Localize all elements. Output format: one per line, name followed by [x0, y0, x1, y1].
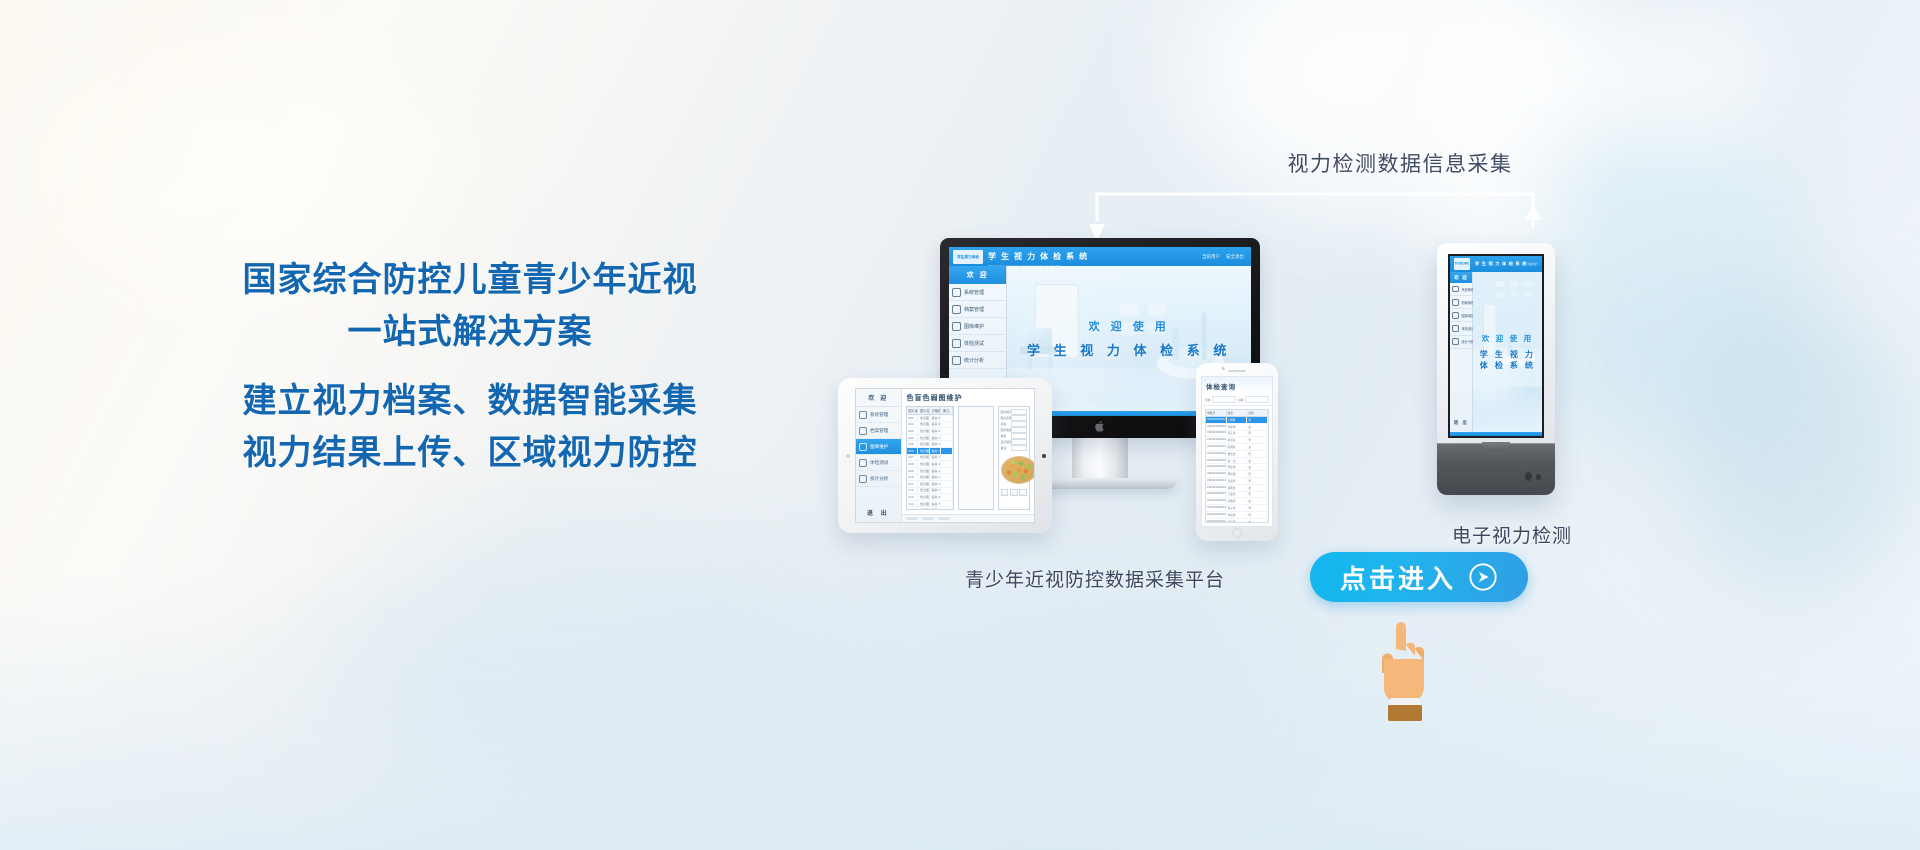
table-row[interactable]: 3301021020010008孙佳怡女	[1206, 464, 1268, 471]
table-cell: 答案 6	[930, 428, 942, 434]
image-library-icon	[1452, 312, 1459, 319]
table-cell	[941, 468, 953, 474]
kiosk-sidebar-exit-button[interactable]: 退 出	[1450, 415, 1472, 432]
table-cell: 女	[1247, 519, 1268, 523]
table-row[interactable]: 009色盲图09答案 2	[907, 468, 953, 475]
user-gear-icon	[1452, 286, 1459, 293]
desktop-app-topbar: 学生视力体检 学 生 视 力 体 检 系 统 STUDENT VISUAL EX…	[949, 247, 1251, 266]
status-segment	[922, 517, 934, 520]
tablet-sidebar-item-label: 系统管理	[870, 412, 888, 418]
table-cell: 答案 2	[930, 468, 942, 474]
table-cell	[941, 435, 953, 441]
table-cell: 色盲图05	[918, 441, 930, 447]
table-cell: 001	[907, 415, 919, 421]
table-cell: 女	[1247, 498, 1268, 504]
table-cell: 答案 3	[930, 435, 942, 441]
tablet-sidebar-item-archive-management[interactable]: 档案管理	[856, 423, 901, 439]
grade-filter-select[interactable]	[1212, 396, 1236, 403]
form-field-label: 图片名称	[1001, 416, 1009, 420]
kiosk-screen: 学生视力体检 学 生 视 力 体 检 系 统 当前用户 安全退出 欢 迎 系统管…	[1448, 254, 1544, 438]
kiosk-chin-notch	[1482, 442, 1510, 451]
tablet-screen: 欢 迎 系统管理 档案管理 图库维护 体检测试	[855, 388, 1035, 523]
folder-icon	[952, 305, 961, 314]
form-field-label: 图片编号	[1001, 410, 1009, 414]
table-cell: 色盲图07	[918, 455, 930, 461]
table-cell: 3301021020010015	[1206, 512, 1227, 518]
table-cell: 赵一诺	[1227, 458, 1248, 464]
image-library-icon	[952, 322, 961, 331]
table-row[interactable]: 3301021020010014何子轩男	[1206, 505, 1268, 512]
table-row[interactable]: 3301021020010013冯雅婷女	[1206, 498, 1268, 505]
tablet-sidebar-item-statistics[interactable]: 统计分析	[856, 471, 901, 487]
grade-filter[interactable]: 年级	[1205, 396, 1236, 403]
data-flow-label: 视力检测数据信息采集	[1255, 148, 1545, 178]
background-blur-b	[1680, 300, 1920, 600]
table-cell: 005	[907, 441, 919, 447]
safe-logout-button[interactable]: 安全退出	[1226, 254, 1244, 260]
table-cell: 色盲图12	[918, 488, 930, 494]
phone-home-button[interactable]	[1232, 528, 1242, 538]
kiosk-sidebar-item-statistics[interactable]: 统计分析	[1450, 336, 1472, 349]
kiosk-welcome-heading: 欢 迎 使 用	[1482, 333, 1534, 344]
current-user-label[interactable]: 当前用户	[1527, 262, 1537, 266]
kiosk-app-topbar: 学生视力体检 学 生 视 力 体 检 系 统 当前用户 安全退出	[1450, 256, 1542, 272]
tablet-sidebar-item-label: 统计分析	[870, 476, 888, 482]
phone-screen: 体检查询 年级 班级 学籍号 姓名 性别 3301021020010001王明轩…	[1201, 376, 1273, 527]
enter-button-label: 点击进入	[1340, 559, 1456, 596]
form-field-label: 答案	[1001, 422, 1009, 426]
table-cell: 013	[907, 494, 919, 500]
table-row[interactable]: 015色盲图15答案 26	[907, 507, 953, 510]
kiosk-sidebar-item-exam-test[interactable]: 体检测试	[1450, 322, 1472, 335]
vision-screening-kiosk: 学生视力体检 学 生 视 力 体 检 系 统 当前用户 安全退出 欢 迎 系统管…	[1437, 243, 1555, 495]
table-cell: 色盲图01	[918, 415, 930, 421]
table-body: 001色盲图01答案 5002色盲图02答案 8003色盲图03答案 6004色…	[907, 415, 953, 510]
form-field-label: 显示顺序	[1001, 440, 1009, 444]
table-cell: 王俊杰	[1227, 492, 1248, 498]
background-blur-c	[300, 520, 820, 780]
table-row[interactable]: 3301021020010010吴嘉伟男	[1206, 478, 1268, 485]
table-row[interactable]: 3301021020010005陈雨欣女	[1206, 444, 1268, 451]
sidebar-header-welcome: 欢 迎	[949, 266, 1006, 284]
tablet-app: 欢 迎 系统管理 档案管理 图库维护 体检测试	[856, 389, 1034, 522]
table-cell: 答案 42	[930, 481, 942, 487]
sidebar-item-archive-management[interactable]: 档案管理	[949, 301, 1006, 318]
table-cell	[941, 494, 953, 500]
table-header-row: 图片编号 图片名称 正确答案 备注	[907, 407, 953, 415]
tablet-app-sidebar: 欢 迎 系统管理 档案管理 图库维护 体检测试	[856, 389, 902, 522]
app-logo-icon: 学生视力体检	[953, 250, 983, 264]
table-cell: 色盲图11	[918, 481, 930, 487]
table-cell: 3301021020010003	[1206, 431, 1227, 437]
table-cell: 3301021020010008	[1206, 464, 1227, 470]
tablet-status-bar	[902, 514, 1035, 522]
table-row[interactable]: 011色盲图11答案 42	[907, 481, 953, 488]
current-user-label[interactable]: 当前用户	[1202, 254, 1220, 260]
table-cell: 007	[907, 455, 919, 461]
add-button[interactable]	[1001, 489, 1009, 496]
tablet-content-columns: 图片编号 图片名称 正确答案 备注 001色盲图01答案 5002色盲图02答案…	[902, 406, 1035, 514]
table-cell: 杨浩然	[1227, 451, 1248, 457]
test-icon	[952, 339, 961, 348]
table-cell: 男	[1247, 478, 1268, 484]
table-cell: 答案 16	[930, 474, 942, 480]
desktop-app-title: 学 生 视 力 体 检 系 统	[988, 252, 1089, 261]
table-cell	[941, 461, 953, 467]
tablet-sidebar-item-label: 档案管理	[870, 428, 888, 434]
chart-preview-pane	[958, 406, 994, 510]
table-cell: 003	[907, 428, 919, 434]
table-cell: 男	[1247, 512, 1268, 518]
ishihara-plate-icon	[1001, 456, 1035, 484]
student-exam-table[interactable]: 学籍号 姓名 性别 3301021020010001王明轩男3301021020…	[1205, 409, 1269, 523]
table-cell: 3301021020010016	[1206, 519, 1227, 523]
table-cell: 答案 8	[930, 422, 942, 428]
table-cell: 张子豪	[1227, 431, 1248, 437]
table-cell: 015	[907, 507, 919, 510]
table-cell	[941, 474, 953, 480]
chart-clock-icon	[859, 475, 867, 483]
table-cell: 男	[1247, 437, 1268, 443]
background-blur-e	[40, 60, 460, 280]
kiosk-sensor-cluster	[1525, 472, 1541, 481]
desktop-app-topbar-actions[interactable]: 当前用户 安全退出	[1202, 254, 1247, 260]
table-cell: 男	[1247, 431, 1268, 437]
kiosk-sensor-icon	[1536, 474, 1541, 480]
table-cell: 3301021020010006	[1206, 451, 1227, 457]
column-header: 图片名称	[918, 407, 930, 414]
welcome-system-name: 学 生 视 力 体 检 系 统	[1023, 342, 1235, 360]
sidebar-item-label: 统计分析	[964, 357, 984, 364]
kiosk-sidebar-item-archive-management[interactable]: 档案管理	[1450, 296, 1472, 309]
form-field-label: 图片路径	[1001, 428, 1009, 432]
table-cell: 006	[907, 448, 919, 454]
desktop-app-title-group: 学 生 视 力 体 检 系 统 STUDENT VISUAL EXAMINATI…	[988, 247, 1089, 268]
form-field-label: 备注	[1001, 446, 1009, 450]
table-cell: 吴嘉伟	[1227, 478, 1248, 484]
table-cell: 009	[907, 468, 919, 474]
table-row[interactable]: 3301021020010004刘思远男	[1206, 437, 1268, 444]
table-cell: 答案 35	[930, 488, 942, 494]
table-cell: 3301021020010001	[1206, 417, 1227, 423]
background-blur-d	[760, 560, 1240, 800]
table-cell: 女	[1247, 444, 1268, 450]
table-cell: 答案 45	[930, 461, 942, 467]
table-cell: 002	[907, 422, 919, 428]
kiosk-app-topbar-actions[interactable]: 当前用户 安全退出	[1527, 262, 1542, 266]
table-row[interactable]: 002色盲图02答案 8	[907, 422, 953, 429]
tablet-home-button[interactable]	[1042, 454, 1046, 458]
sidebar-item-exam-test[interactable]: 体检测试	[949, 335, 1006, 352]
table-cell: 3301021020010010	[1206, 478, 1227, 484]
kiosk-welcome-system-name: 学 生 视 力 体 检 系 统	[1473, 350, 1542, 372]
sidebar-item-label: 系统管理	[964, 289, 984, 296]
table-cell	[941, 448, 953, 454]
test-icon	[859, 459, 867, 467]
table-cell: 色盲图04	[918, 435, 930, 441]
image-library-icon	[859, 443, 867, 451]
headline-line-3: 建立视力档案、数据智能采集	[170, 376, 770, 428]
table-row[interactable]: 3301021020010006杨浩然男	[1206, 451, 1268, 458]
table-cell: 孙佳怡	[1227, 464, 1248, 470]
status-segment	[906, 517, 918, 520]
table-cell	[941, 501, 953, 507]
table-row[interactable]: 3301021020010002李梦琪女	[1206, 424, 1268, 431]
table-cell: 男	[1247, 471, 1268, 477]
form-button-row[interactable]	[1001, 489, 1027, 496]
table-row[interactable]: 001色盲图01答案 5	[907, 415, 953, 422]
table-cell: 010	[907, 474, 919, 480]
table-cell: 012	[907, 488, 919, 494]
headline-line-2: 一站式解决方案	[170, 307, 770, 359]
table-row[interactable]: 3301021020010001王明轩男	[1206, 417, 1268, 424]
chart-edit-form[interactable]: 图片编号图片名称答案图片路径类别显示顺序备注	[998, 406, 1030, 510]
table-cell: 答案 74	[930, 448, 942, 454]
table-cell: 女	[1247, 464, 1268, 470]
welcome-heading: 欢 迎 使 用	[1089, 318, 1170, 334]
table-cell: 色盲图10	[918, 474, 930, 480]
class-filter[interactable]: 班级	[1238, 396, 1269, 403]
sidebar-item-label: 档案管理	[964, 306, 984, 313]
phone-speaker-grille	[1228, 370, 1246, 372]
table-row[interactable]: 007色盲图07答案 7	[907, 455, 953, 462]
table-cell: 郑晓彤	[1227, 485, 1248, 491]
kiosk-base-panel	[1437, 443, 1555, 495]
table-cell: 3301021020010002	[1206, 424, 1227, 430]
background-bottom-haze	[0, 570, 1920, 850]
user-gear-icon	[859, 411, 867, 419]
tablet-app-body: 色盲色弱图维护 图片编号 图片名称 正确答案 备注 001色盲图01答案 500…	[902, 389, 1035, 522]
chart-clock-icon	[952, 356, 961, 365]
table-cell: 色盲图09	[918, 468, 930, 474]
app-logo-text: 学生视力体检	[957, 255, 979, 259]
table-cell: 女	[1247, 485, 1268, 491]
table-cell: 色盲图03	[918, 428, 930, 434]
table-cell: 陈雨欣	[1227, 444, 1248, 450]
table-cell: 答案 29	[930, 441, 942, 447]
caption-data-platform: 青少年近视防控数据采集平台	[965, 565, 1225, 592]
test-icon	[1452, 325, 1459, 332]
grade-filter-label: 年级	[1205, 398, 1211, 402]
table-cell: 色盲图08	[918, 461, 930, 467]
phone-filter-bar[interactable]: 年级 班级	[1202, 394, 1272, 406]
class-filter-label: 班级	[1238, 398, 1244, 402]
table-row[interactable]: 003色盲图03答案 6	[907, 428, 953, 435]
headline-line-4: 视力结果上传、区域视力防控	[170, 428, 770, 480]
kiosk-sensor-icon	[1525, 472, 1532, 481]
sidebar-item-label: 体检测试	[964, 340, 984, 347]
table-cell: 3301021020010013	[1206, 498, 1227, 504]
table-cell: 004	[907, 435, 919, 441]
table-row[interactable]: 014色盲图14答案 73	[907, 501, 953, 508]
phone-page-title: 体检查询	[1202, 377, 1272, 394]
table-cell	[941, 481, 953, 487]
tablet-device: 欢 迎 系统管理 档案管理 图库维护 体检测试	[838, 378, 1052, 533]
headline-line-1: 国家综合防控儿童青少年近视	[170, 255, 770, 307]
caption-electronic-vision-test: 电子视力检测	[1452, 521, 1572, 548]
table-cell: 男	[1247, 417, 1268, 423]
table-body: 3301021020010001王明轩男3301021020010002李梦琪女…	[1206, 417, 1268, 523]
table-cell: 女	[1247, 424, 1268, 430]
table-cell: 色盲图02	[918, 422, 930, 428]
arrow-right-circle-icon	[1468, 562, 1498, 592]
class-filter-select[interactable]	[1245, 396, 1269, 403]
edit-button[interactable]	[1010, 489, 1018, 496]
tablet-camera-icon	[846, 454, 850, 458]
table-cell	[941, 415, 953, 421]
table-row[interactable]: 008色盲图08答案 45	[907, 461, 953, 468]
form-field[interactable]: 备注	[1001, 445, 1027, 451]
table-cell: 3301021020010009	[1206, 471, 1227, 477]
table-row[interactable]: 005色盲图05答案 29	[907, 441, 953, 448]
table-cell	[941, 507, 953, 510]
kiosk-app-body: 欢 迎 系统管理 档案管理 图库维护	[1450, 272, 1542, 432]
smartphone-device: 体检查询 年级 班级 学籍号 姓名 性别 3301021020010001王明轩…	[1196, 363, 1278, 541]
table-row[interactable]: 3301021020010012王俊杰男	[1206, 492, 1268, 499]
table-cell: 答案 26	[930, 507, 942, 510]
monitor-stand-neck	[1072, 438, 1128, 480]
table-row[interactable]: 012色盲图12答案 35	[907, 488, 953, 495]
table-row[interactable]: 010色盲图10答案 16	[907, 474, 953, 481]
kiosk-sidebar-header: 欢 迎	[1450, 272, 1472, 283]
table-cell: 周梓涵	[1227, 471, 1248, 477]
table-cell: 冯雅婷	[1227, 498, 1248, 504]
tablet-sidebar-exit-button[interactable]: 退 出	[856, 504, 901, 522]
background-blur-panel	[1560, 140, 1790, 430]
table-cell: 许嘉豪	[1227, 512, 1248, 518]
table-cell: 014	[907, 501, 919, 507]
tablet-sidebar-item-system-management[interactable]: 系统管理	[856, 407, 901, 423]
column-header: 图片编号	[907, 407, 919, 414]
table-cell: 3301021020010004	[1206, 437, 1227, 443]
table-cell: 男	[1247, 505, 1268, 511]
column-header: 学籍号	[1206, 410, 1227, 416]
table-cell: 答案 7	[930, 455, 942, 461]
table-cell: 3301021020010014	[1206, 505, 1227, 511]
table-row[interactable]: 3301021020010016林诗涵女	[1206, 519, 1268, 523]
table-cell: 008	[907, 461, 919, 467]
table-cell: 刘思远	[1227, 437, 1248, 443]
delete-button[interactable]	[1019, 489, 1027, 496]
tablet-sidebar-item-exam-test[interactable]: 体检测试	[856, 455, 901, 471]
column-header: 姓名	[1227, 410, 1248, 416]
table-cell: 色盲图14	[918, 501, 930, 507]
tablet-sidebar-item-image-library[interactable]: 图库维护	[856, 439, 901, 455]
tablet-sidebar-item-label: 体检测试	[870, 460, 888, 466]
table-header-row: 学籍号 姓名 性别	[1206, 410, 1268, 417]
apple-logo-icon	[1095, 420, 1106, 433]
kiosk-app-footer	[1450, 432, 1542, 436]
table-row[interactable]: 3301021020010015许嘉豪男	[1206, 512, 1268, 519]
column-header: 备注	[941, 407, 953, 414]
table-row[interactable]: 3301021020010003张子豪男	[1206, 431, 1268, 438]
table-cell: 林诗涵	[1227, 519, 1248, 523]
phone-camera-icon	[1222, 367, 1225, 370]
form-field-label: 类别	[1001, 434, 1009, 438]
table-cell	[941, 488, 953, 494]
app-logo-text: 学生视力体检	[1455, 263, 1469, 265]
user-gear-icon	[952, 288, 961, 297]
tablet-sidebar-header: 欢 迎	[856, 389, 901, 407]
table-cell	[941, 441, 953, 447]
table-cell: 女	[1247, 458, 1268, 464]
sidebar-item-label: 图库维护	[964, 323, 984, 330]
kiosk-sidebar-item-image-library[interactable]: 图库维护	[1450, 309, 1472, 322]
headline-block: 国家综合防控儿童青少年近视 一站式解决方案 建立视力档案、数据智能采集 视力结果…	[170, 255, 770, 480]
table-cell: 色盲图06	[918, 448, 930, 454]
tablet-sidebar-item-label: 图库维护	[870, 444, 888, 450]
status-segment	[938, 517, 950, 520]
sidebar-item-statistics[interactable]: 统计分析	[949, 352, 1006, 369]
table-cell: 3301021020010012	[1206, 492, 1227, 498]
table-cell: 李梦琪	[1227, 424, 1248, 430]
column-header: 正确答案	[930, 407, 942, 414]
background-blur-window	[1430, 10, 1760, 270]
form-field-input[interactable]	[1011, 445, 1027, 451]
kiosk-app-title: 学 生 视 力 体 检 系 统	[1475, 261, 1527, 267]
kiosk-sidebar-item-system-management[interactable]: 系统管理	[1450, 283, 1472, 296]
table-cell: 011	[907, 481, 919, 487]
table-row[interactable]: 3301021020010007赵一诺女	[1206, 458, 1268, 465]
vision-screening-promo-banner: 国家综合防控儿童青少年近视 一站式解决方案 建立视力档案、数据智能采集 视力结果…	[0, 0, 1920, 850]
table-row[interactable]: 3301021020010009周梓涵男	[1206, 471, 1268, 478]
table-cell: 色盲图15	[918, 507, 930, 510]
folder-icon	[859, 427, 867, 435]
table-cell: 男	[1247, 451, 1268, 457]
table-row[interactable]: 013色盲图13答案 96	[907, 494, 953, 501]
table-row[interactable]: 006色盲图06答案 74	[907, 448, 953, 455]
sidebar-item-image-library[interactable]: 图库维护	[949, 318, 1006, 335]
pointing-hand-icon	[1372, 615, 1436, 725]
table-row[interactable]: 3301021020010011郑晓彤女	[1206, 485, 1268, 492]
colorblind-chart-table[interactable]: 图片编号 图片名称 正确答案 备注 001色盲图01答案 5002色盲图02答案…	[906, 406, 954, 510]
chart-clock-icon	[1452, 338, 1459, 345]
enter-button[interactable]: 点击进入	[1310, 552, 1528, 602]
table-cell: 王明轩	[1227, 417, 1248, 423]
table-cell	[941, 422, 953, 428]
table-cell: 答案 5	[930, 415, 942, 421]
table-row[interactable]: 004色盲图04答案 3	[907, 435, 953, 442]
table-cell: 3301021020010011	[1206, 485, 1227, 491]
form-field-list: 图片编号图片名称答案图片路径类别显示顺序备注	[1001, 409, 1027, 451]
table-cell	[941, 428, 953, 434]
kiosk-welcome-panel: 欢 迎 使 用 学 生 视 力 体 检 系 统	[1473, 272, 1542, 432]
background-blur-a	[1180, 0, 1600, 220]
folder-icon	[1452, 299, 1459, 306]
table-cell: 答案 96	[930, 494, 942, 500]
tablet-page-title: 色盲色弱图维护	[902, 389, 1035, 406]
table-cell: 何子轩	[1227, 505, 1248, 511]
kiosk-app-sidebar: 欢 迎 系统管理 档案管理 图库维护	[1450, 272, 1473, 432]
column-header: 性别	[1247, 410, 1268, 416]
table-cell	[941, 455, 953, 461]
kiosk-app-screen: 学生视力体检 学 生 视 力 体 检 系 统 当前用户 安全退出 欢 迎 系统管…	[1450, 256, 1542, 436]
table-cell: 男	[1247, 492, 1268, 498]
table-cell: 3301021020010007	[1206, 458, 1227, 464]
table-cell: 3301021020010005	[1206, 444, 1227, 450]
table-cell: 色盲图13	[918, 494, 930, 500]
app-logo-icon: 学生视力体检	[1454, 258, 1470, 270]
table-cell: 答案 73	[930, 501, 942, 507]
sidebar-item-system-management[interactable]: 系统管理	[949, 284, 1006, 301]
